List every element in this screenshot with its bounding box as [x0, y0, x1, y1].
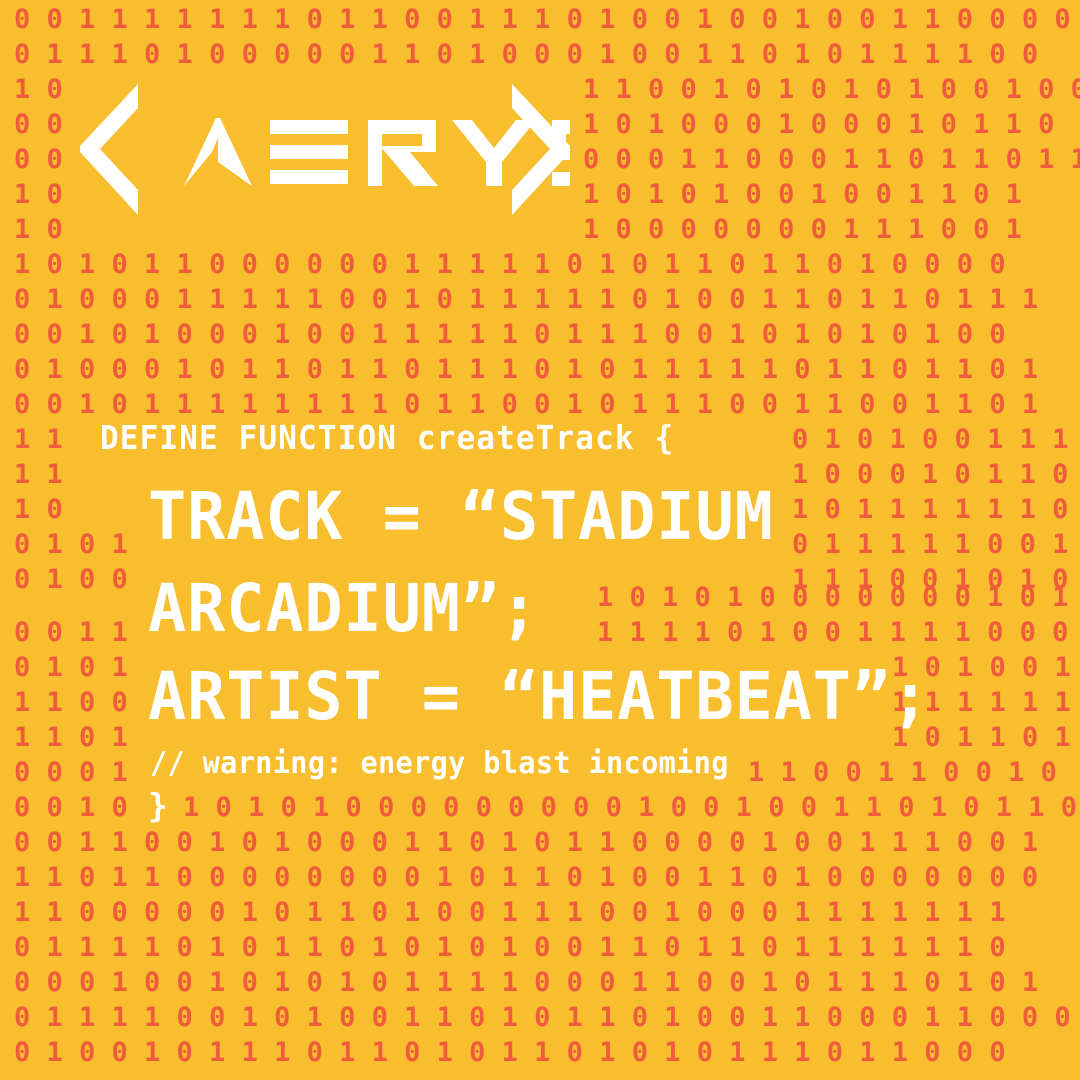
- binary-row: 1 0 1 0 1 0 0 0 0 0 0 0 1 0 1 0: [597, 580, 1080, 615]
- binary-row: 1 0 1 1 1 1 1 1 0: [792, 492, 1080, 527]
- binary-row: 0 1 1 1 1 1 0 0 1: [792, 527, 1080, 562]
- logo-right-bracket-icon: [512, 84, 570, 215]
- binary-row: 1 1 1 1 0 1 0 0 1 1 1 1 0 0 0: [597, 615, 1080, 650]
- binary-row: 1 1 0 0 0 0 0 1 0 1 1 0 1 0 0 1 1 1 0 0 …: [14, 895, 1080, 930]
- logo-letter-e-bar-3: [270, 170, 348, 184]
- code-line-artist: ARTIST = “HEATBEAT”;: [148, 658, 930, 735]
- binary-row: 0 1 0 0 0 1 0 1 1 0 1 1 0 1 1 1 0 1 0 1 …: [14, 352, 1080, 387]
- code-line-define: DEFINE FUNCTION createTrack {: [100, 418, 674, 457]
- binary-row: 0 0 1 1 1 1 1 1 1 0 1 1 0 0 1 1 1 0 1 0 …: [14, 2, 1080, 37]
- binary-row: 1 1 1 0 0 1 0 1 0: [792, 562, 1080, 597]
- binary-row: 1 0 1 0 0 0 1 0 0 0 1 0 1 1 0: [583, 107, 1080, 142]
- binary-row: 0 1 0 1 0 0 1 1 1: [792, 422, 1080, 457]
- binary-row: 0 0 0 1 0 0 1 0 1 0 1 0 1 1 1 1 0 0 0 1 …: [14, 965, 1080, 1000]
- logo-letter-e-bar-2: [270, 145, 348, 159]
- code-line-comment: // warning: energy blast incoming: [150, 746, 729, 781]
- binary-row: 0 0 1 0 1 1 1 1 1 1 1 1 0 1 1 0 0 1 0 1 …: [14, 387, 1080, 422]
- binary-row: 1 0 1 0 1 0 0 0 0 0 0 0 0 0 1 0 0 1 0 0 …: [183, 790, 1080, 825]
- binary-row: 1 0 0 0 0 0 0 0 1 1 1 0 0 1: [583, 212, 1080, 247]
- binary-row: 0 0 0 1 1 0 0 0 1 1 0 1 1 0 1 1: [583, 142, 1080, 177]
- binary-row: 1 0 0 0 1 0 1 1 0: [792, 457, 1080, 492]
- binary-row: 0 1 0 0 0 1 1 1 1 1 0 0 1 0 1 1 1 1 1 0 …: [14, 282, 1080, 317]
- binary-row: 0 0 1 0 1 0 0 0 1 0 0 1 1 1 1 1 0 1 1 1 …: [14, 317, 1080, 352]
- binary-row: 0 0 1 0: [14, 790, 1080, 825]
- code-line-closing-brace: }: [148, 786, 168, 825]
- binary-row: 0 1 1 1 0 1 0 0 0 0 0 1 1 0 1 0 0 0 1 0 …: [14, 37, 1080, 72]
- binary-row: 0 0 1 1 0 0 1 0 1 0 0 0 1 1 0 1 0 1 1 0 …: [14, 825, 1080, 860]
- logo-left-bracket-icon: [80, 84, 138, 215]
- aerys-logo: [80, 82, 570, 217]
- logo-letter-y: [452, 120, 536, 186]
- logo-letter-r: [368, 120, 438, 186]
- binary-row: 0 1 1 1 1 0 0 1 0 1 0 0 1 1 0 1 0 1 1 0 …: [14, 1000, 1080, 1035]
- logo-letter-a: [184, 118, 252, 186]
- code-line-track: TRACK = “STADIUM: [148, 478, 774, 555]
- code-line-track-continued: ARCADIUM”;: [148, 570, 539, 647]
- binary-row: 1 1 0 1 1 0 0 0 0 0 0 0 0 1 0 1 1 0 1 0 …: [14, 860, 1080, 895]
- binary-row: 1 1 0 0 1 1 0 0 1 0: [748, 755, 1080, 790]
- binary-row: 1 0 1 0 1 0 0 1 0 0 1 1 0 1: [583, 177, 1080, 212]
- binary-row: 1 0: [14, 212, 1080, 247]
- poster-canvas: 0 0 1 1 1 1 1 1 1 0 1 1 0 0 1 1 1 0 1 0 …: [0, 0, 1080, 1080]
- binary-row: 1 0 1 0 1 1 0 0 0 0 0 0 1 1 1 1 1 0 1 0 …: [14, 247, 1080, 282]
- binary-row: 1 1 0 0 1 0 1 0 1 0 1 0 0 1 0 0 1: [583, 72, 1080, 107]
- binary-row: 0 1 0 0 1 0 1 1 1 0 1 1 0 1 0 1 1 0 1 0 …: [14, 1035, 1080, 1070]
- logo-letter-e-bar-1: [270, 120, 348, 134]
- binary-row: 0 1 1 1 1 0 1 0 1 1 0 1 0 1 0 1 0 0 1 1 …: [14, 930, 1080, 965]
